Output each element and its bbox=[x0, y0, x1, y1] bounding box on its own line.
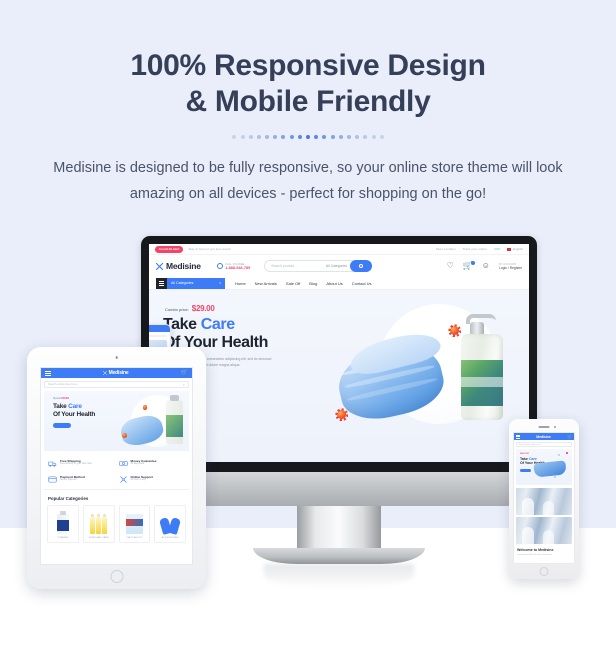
phone-logo-text[interactable]: Medisine bbox=[536, 435, 551, 439]
category-card-row: VITAMINS PERSONAL CARE FIRST AID KIT ACC… bbox=[44, 505, 189, 543]
close-icon[interactable]: ✕ bbox=[182, 383, 185, 387]
vitamin-bottle-icon bbox=[50, 510, 76, 534]
divider-dot bbox=[241, 135, 245, 139]
medisine-logo-icon bbox=[156, 263, 163, 270]
topbar-note: Stay at home if you feel unwell bbox=[188, 247, 230, 251]
site-topbar: Covid-19 alert Stay at home if you feel … bbox=[149, 244, 529, 255]
payment-card-icon bbox=[48, 475, 57, 484]
phone-buy-now-button[interactable] bbox=[520, 469, 531, 472]
search-icon bbox=[359, 264, 363, 268]
chevron-down-icon: ▾ bbox=[219, 281, 221, 285]
nav-item-blog[interactable]: Blog bbox=[309, 281, 317, 286]
combo-price-label: Combo price: bbox=[165, 307, 189, 312]
inline-phone-searchbar bbox=[149, 335, 167, 337]
feature-item: Payment MethodSecure payment bbox=[48, 475, 115, 484]
phone-welcome-text: Lorem ipsum dolor sit amet consectetur bbox=[517, 554, 571, 557]
flag-icon bbox=[507, 248, 511, 251]
feature-subtitle: Free delivery on your first order bbox=[60, 463, 92, 466]
divider-dot bbox=[306, 135, 310, 139]
money-guarantee-icon bbox=[119, 459, 128, 468]
page-title-line2: & Mobile Friendly bbox=[0, 84, 616, 120]
category-label: PERSONAL CARE bbox=[86, 537, 112, 539]
divider-dot bbox=[339, 135, 343, 139]
feature-item: Online Support24 hours a day bbox=[119, 475, 186, 484]
monitor-stand-base bbox=[253, 548, 425, 564]
divider-dot bbox=[298, 135, 302, 139]
divider-dot bbox=[290, 135, 294, 139]
heart-icon[interactable]: ♡ bbox=[447, 262, 454, 270]
virus-particle-icon bbox=[143, 405, 148, 410]
tablet-title-care: Care bbox=[68, 403, 82, 410]
phone-hero-banner: SALE OFF Take CareOf Your Health bbox=[516, 449, 572, 485]
account-action: Login / Register bbox=[499, 266, 522, 270]
feature-subtitle: 30 days back bbox=[131, 463, 157, 466]
page-subtitle: Medisine is designed to be fully respons… bbox=[43, 155, 573, 207]
header-phone-block: CALL US FREE 1-888-546-789 bbox=[217, 263, 250, 270]
divider-dot bbox=[249, 135, 253, 139]
phone-title-care: Care bbox=[529, 457, 537, 461]
tablet-screen: Medisine 🛒 Search entire store here... ✕… bbox=[40, 367, 193, 565]
divider-dot bbox=[331, 135, 335, 139]
topbar-link-language[interactable]: English bbox=[507, 247, 523, 251]
medisine-logo-icon bbox=[103, 371, 107, 375]
personal-care-icon bbox=[86, 510, 112, 534]
hero-artwork bbox=[335, 292, 525, 452]
hero-title-part-health: Health bbox=[221, 334, 268, 351]
shipping-truck-icon bbox=[48, 459, 57, 468]
nav-item-list: Home New Arrivals Sale Off Blog About Us… bbox=[225, 281, 372, 286]
gloves-icon bbox=[157, 510, 183, 534]
nav-item-new-arrivals[interactable]: New Arrivals bbox=[255, 281, 277, 286]
combo-price-tag: Combo price:$29.00 bbox=[165, 304, 214, 313]
divider-dot bbox=[265, 135, 269, 139]
tablet-feature-grid: Free ShippingFree delivery on your first… bbox=[44, 454, 189, 490]
phone-search-placeholder: Search entire store here... bbox=[519, 444, 542, 446]
all-categories-label: All Categories bbox=[171, 281, 193, 285]
divider-dot bbox=[322, 135, 326, 139]
phone-number[interactable]: 1-888-546-789 bbox=[225, 266, 250, 270]
tablet-logo[interactable]: Medisine bbox=[103, 370, 128, 376]
category-card[interactable]: FIRST AID KIT bbox=[119, 505, 151, 543]
topbar-links: Store Location Track your orders USD Eng… bbox=[436, 247, 523, 251]
divider-dot bbox=[347, 135, 351, 139]
bottle-label bbox=[461, 360, 503, 406]
mobile-phone-mockup: Medisine 🛒 Search entire store here... S… bbox=[509, 419, 579, 579]
search-placeholder: Search product... bbox=[271, 264, 297, 268]
cart-icon[interactable]: 🛒 bbox=[181, 370, 188, 376]
virus-particle-icon bbox=[122, 433, 127, 438]
topbar-link-currency[interactable]: USD bbox=[494, 247, 501, 251]
search-input[interactable]: Search product... All Categories bbox=[264, 260, 372, 272]
divider-dot bbox=[257, 135, 261, 139]
cart-icon[interactable]: 🛒 bbox=[567, 435, 572, 439]
inline-phone-header bbox=[149, 325, 170, 332]
hamburger-icon[interactable] bbox=[45, 371, 51, 376]
category-card[interactable]: ACCESSORIES bbox=[154, 505, 186, 543]
cart-count-badge bbox=[471, 261, 475, 265]
phone-sale-label: SALE OFF bbox=[520, 453, 529, 455]
phone-speaker bbox=[539, 426, 550, 428]
pharmacist-photo bbox=[516, 517, 572, 544]
category-label: ACCESSORIES bbox=[157, 537, 183, 539]
tablet-title-take: Take bbox=[53, 403, 68, 410]
account-block[interactable]: MY ACCOUNT Login / Register bbox=[499, 263, 522, 270]
nav-item-home[interactable]: Home bbox=[235, 281, 246, 286]
virus-particle-icon bbox=[337, 410, 346, 419]
tablet-camera-icon bbox=[115, 356, 118, 359]
pharmacist-photo bbox=[516, 488, 572, 515]
first-aid-icon bbox=[122, 510, 148, 534]
tablet-search-placeholder: Search entire store here... bbox=[48, 383, 79, 386]
user-icon[interactable]: ☺ bbox=[482, 262, 490, 270]
divider-dot bbox=[380, 135, 384, 139]
phone-home-button[interactable] bbox=[540, 567, 549, 576]
tablet-sale-value: OFFER bbox=[61, 398, 69, 400]
site-logo-text[interactable]: Medisine bbox=[166, 261, 201, 271]
phone-screen: Medisine 🛒 Search entire store here... S… bbox=[513, 432, 575, 564]
divider-dot bbox=[355, 135, 359, 139]
hand-soap-bottle-icon bbox=[166, 400, 183, 444]
category-label: VITAMINS bbox=[50, 537, 76, 539]
feature-subtitle: 24 hours a day bbox=[131, 479, 153, 482]
popular-categories-section: Popular Categories VITAMINS PERSONAL CAR… bbox=[44, 496, 189, 543]
phone-welcome-title: Welcome to Medisine bbox=[517, 548, 571, 552]
monitor-stand-neck bbox=[297, 506, 381, 554]
divider-dot bbox=[372, 135, 376, 139]
tablet-sale-prefix: Special bbox=[53, 398, 61, 400]
site-main-nav: All Categories ▾ Home New Arrivals Sale … bbox=[149, 277, 529, 290]
feature-subtitle: Secure payment bbox=[60, 479, 85, 482]
divider-dot bbox=[281, 135, 285, 139]
tablet-buy-now-button[interactable] bbox=[53, 423, 71, 428]
category-card[interactable]: PERSONAL CARE bbox=[83, 505, 115, 543]
covid-alert-badge[interactable]: Covid-19 alert bbox=[155, 246, 183, 253]
phone-app-header: Medisine 🛒 bbox=[514, 433, 574, 440]
search-button[interactable] bbox=[350, 260, 372, 272]
grid-menu-icon[interactable] bbox=[156, 278, 167, 289]
hero-title-part-care: Care bbox=[201, 316, 235, 333]
divider-dot bbox=[273, 135, 277, 139]
bottle-body bbox=[461, 334, 503, 420]
nav-item-about-us[interactable]: About Us bbox=[326, 281, 342, 286]
page-title-line1: 100% Responsive Design bbox=[130, 49, 485, 82]
tablet-mockup: Medisine 🛒 Search entire store here... ✕… bbox=[27, 347, 206, 589]
phone-title-ofyour: Of Your bbox=[520, 461, 534, 465]
hero-title-line1: Take Care bbox=[163, 316, 235, 333]
site-header: Medisine CALL US FREE 1-888-546-789 Sear… bbox=[149, 255, 529, 277]
cart-icon[interactable]: 🛒 bbox=[463, 262, 473, 270]
tablet-hero-title: Take CareOf Your Health bbox=[53, 403, 95, 418]
page-title: 100% Responsive Design & Mobile Friendly bbox=[0, 48, 616, 120]
divider-dot bbox=[363, 135, 367, 139]
popular-categories-title: Popular Categories bbox=[48, 496, 189, 501]
tablet-app-header: Medisine 🛒 bbox=[41, 368, 192, 378]
phone-search-input[interactable]: Search entire store here... bbox=[516, 442, 572, 447]
hamburger-icon[interactable] bbox=[516, 435, 520, 439]
phone-welcome-section: Welcome to Medisine Lorem ipsum dolor si… bbox=[517, 548, 571, 557]
topbar-link-store-location[interactable]: Store Location bbox=[436, 247, 456, 251]
monitor-screen: Covid-19 alert Stay at home if you feel … bbox=[149, 244, 529, 462]
search-category-select[interactable]: All Categories bbox=[326, 264, 350, 268]
topbar-language-label: English bbox=[513, 247, 523, 251]
desktop-hero-banner: Combo price:$29.00 Take Care Of Your Hea… bbox=[149, 290, 529, 462]
decorative-dot-divider bbox=[0, 131, 616, 143]
hand-soap-bottle-icon bbox=[461, 312, 503, 420]
nav-item-sale-off[interactable]: Sale Off bbox=[286, 281, 300, 286]
tablet-sale-label: Special OFFER bbox=[53, 398, 69, 400]
nav-item-contact-us[interactable]: Contact Us bbox=[352, 281, 372, 286]
responsive-showcase-page: 100% Responsive Design & Mobile Friendly… bbox=[0, 0, 616, 648]
tablet-title-health: Health bbox=[76, 411, 95, 418]
tablet-search-input[interactable]: Search entire store here... ✕ bbox=[44, 381, 189, 388]
feature-item: Money Guarantee30 days back bbox=[119, 459, 186, 468]
tablet-hero-banner: Special OFFER Take CareOf Your Health bbox=[44, 391, 189, 451]
divider-dot bbox=[314, 135, 318, 139]
divider-dot bbox=[232, 135, 236, 139]
monitor-reflection bbox=[264, 564, 414, 588]
phone-photo-gallery bbox=[516, 488, 572, 544]
combo-price-value: $29.00 bbox=[192, 304, 215, 313]
phone-icon bbox=[217, 263, 223, 269]
header-icon-group: ♡ 🛒 ☺ MY ACCOUNT Login / Register bbox=[447, 262, 522, 270]
tablet-title-ofyour: Of Your bbox=[53, 411, 76, 418]
online-support-icon bbox=[119, 475, 128, 484]
category-label: FIRST AID KIT bbox=[122, 537, 148, 539]
all-categories-dropdown[interactable]: All Categories ▾ bbox=[167, 278, 225, 289]
phone-camera-icon bbox=[554, 426, 556, 428]
phone-title-take: Take bbox=[520, 457, 529, 461]
tablet-home-button[interactable] bbox=[110, 570, 123, 583]
feature-item: Free ShippingFree delivery on your first… bbox=[48, 459, 115, 468]
virus-particle-icon bbox=[450, 326, 459, 335]
category-card[interactable]: VITAMINS bbox=[47, 505, 79, 543]
surgical-mask-icon bbox=[533, 460, 566, 477]
topbar-link-track-orders[interactable]: Track your orders bbox=[463, 247, 487, 251]
tablet-logo-text: Medisine bbox=[109, 370, 129, 376]
